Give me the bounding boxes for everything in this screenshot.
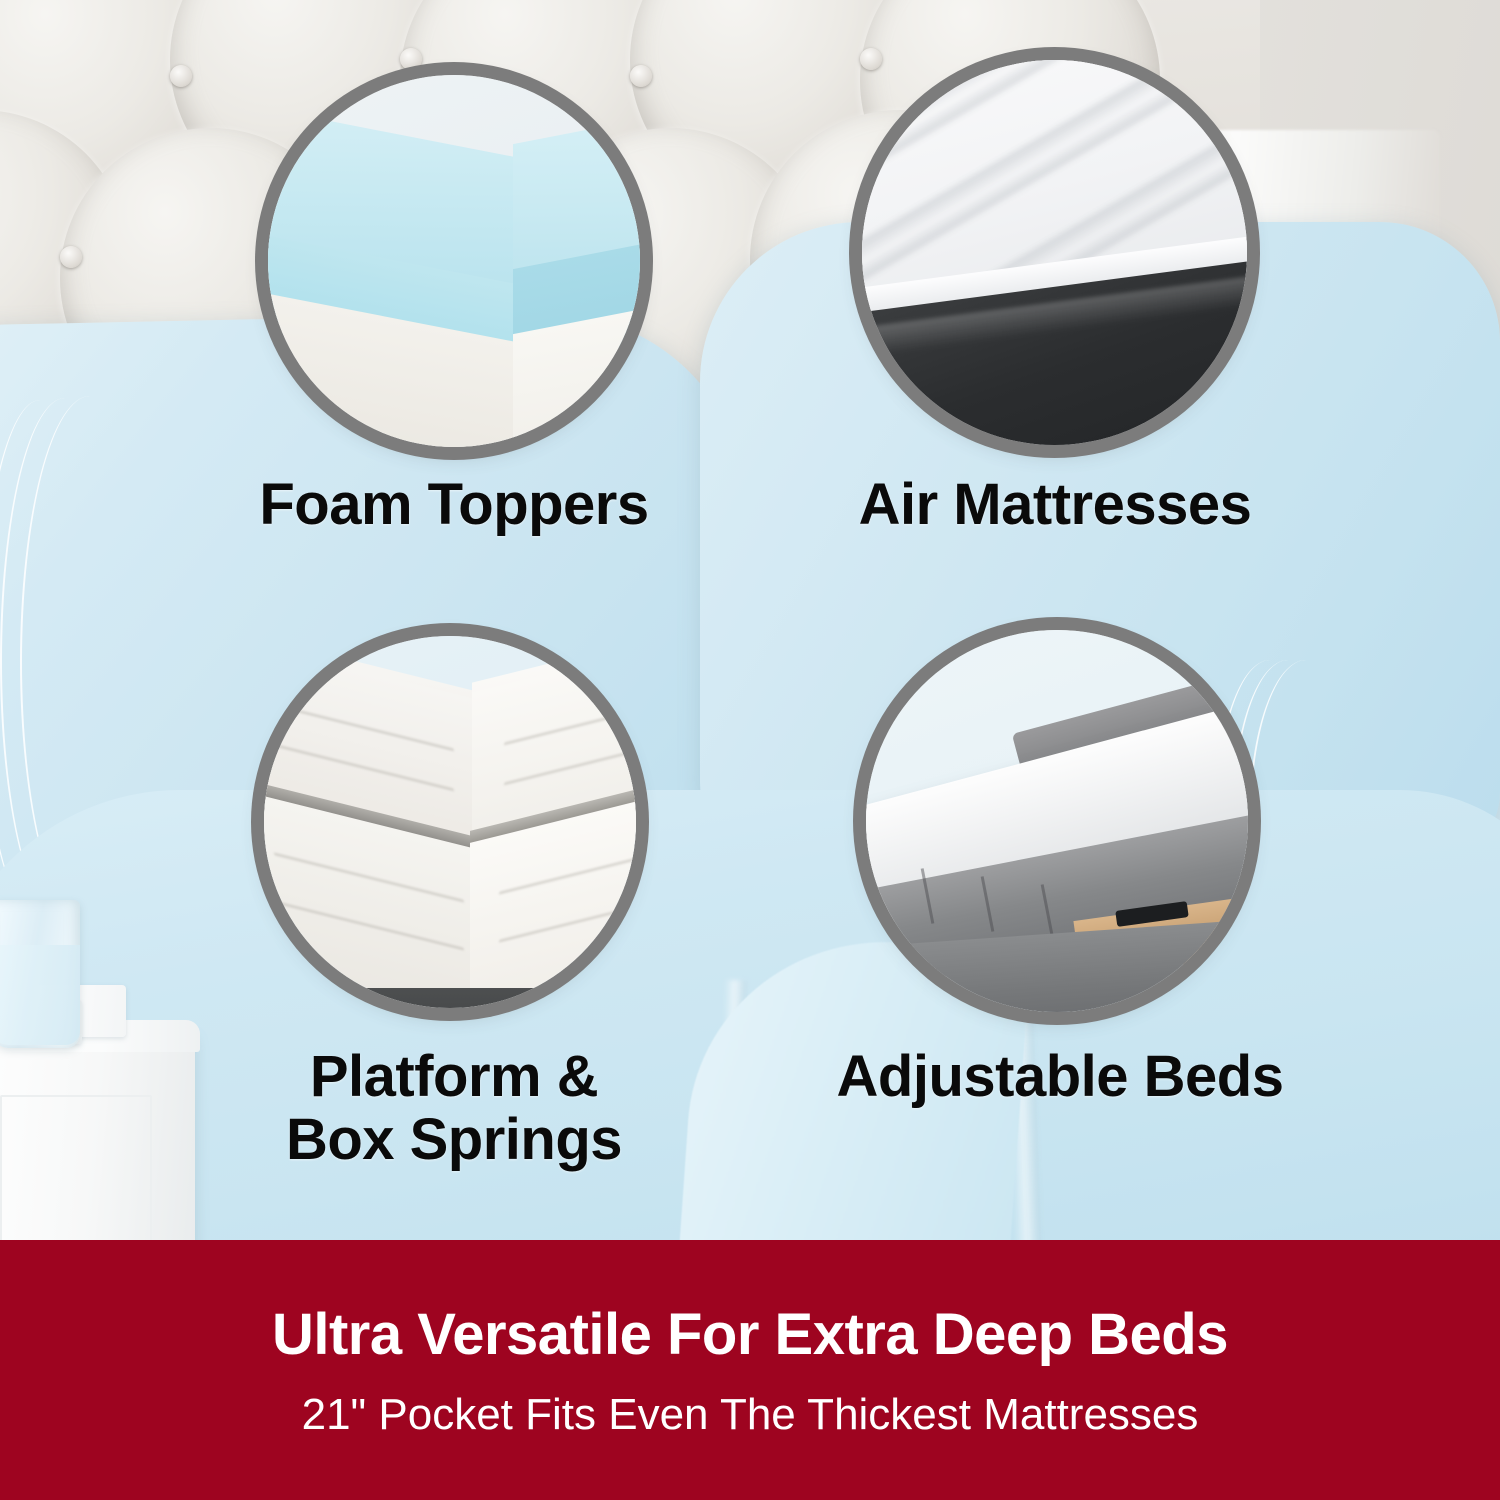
tuft-button <box>170 65 192 87</box>
platform-dark-base <box>264 988 636 1008</box>
banner-headline: Ultra Versatile For Extra Deep Beds <box>272 1301 1228 1368</box>
air-mattresses-label: Air Mattresses <box>790 474 1320 537</box>
adjustable-beds-circle-image <box>866 630 1248 1012</box>
tuft-button <box>400 48 422 70</box>
air-mattresses-circle-image <box>862 60 1247 445</box>
foam-toppers-label: Foam Toppers <box>204 474 704 537</box>
adjustable-beds-label: Adjustable Beds <box>760 1046 1360 1109</box>
banner-subheadline: 21" Pocket Fits Even The Thickest Mattre… <box>302 1390 1199 1440</box>
nightstand-drawer-panel <box>0 1095 152 1245</box>
product-feature-graphic: Foam Toppers Air Mattresses <box>0 0 1500 1500</box>
foam-toppers-circle-image <box>268 75 640 447</box>
promo-banner: Ultra Versatile For Extra Deep Beds 21" … <box>0 1240 1500 1500</box>
tuft-button <box>60 246 82 268</box>
platform-box-springs-circle-image <box>264 636 636 1008</box>
platform-box-springs-label: Platform & Box Springs <box>214 1046 694 1171</box>
water-glass-fill <box>0 945 80 1045</box>
